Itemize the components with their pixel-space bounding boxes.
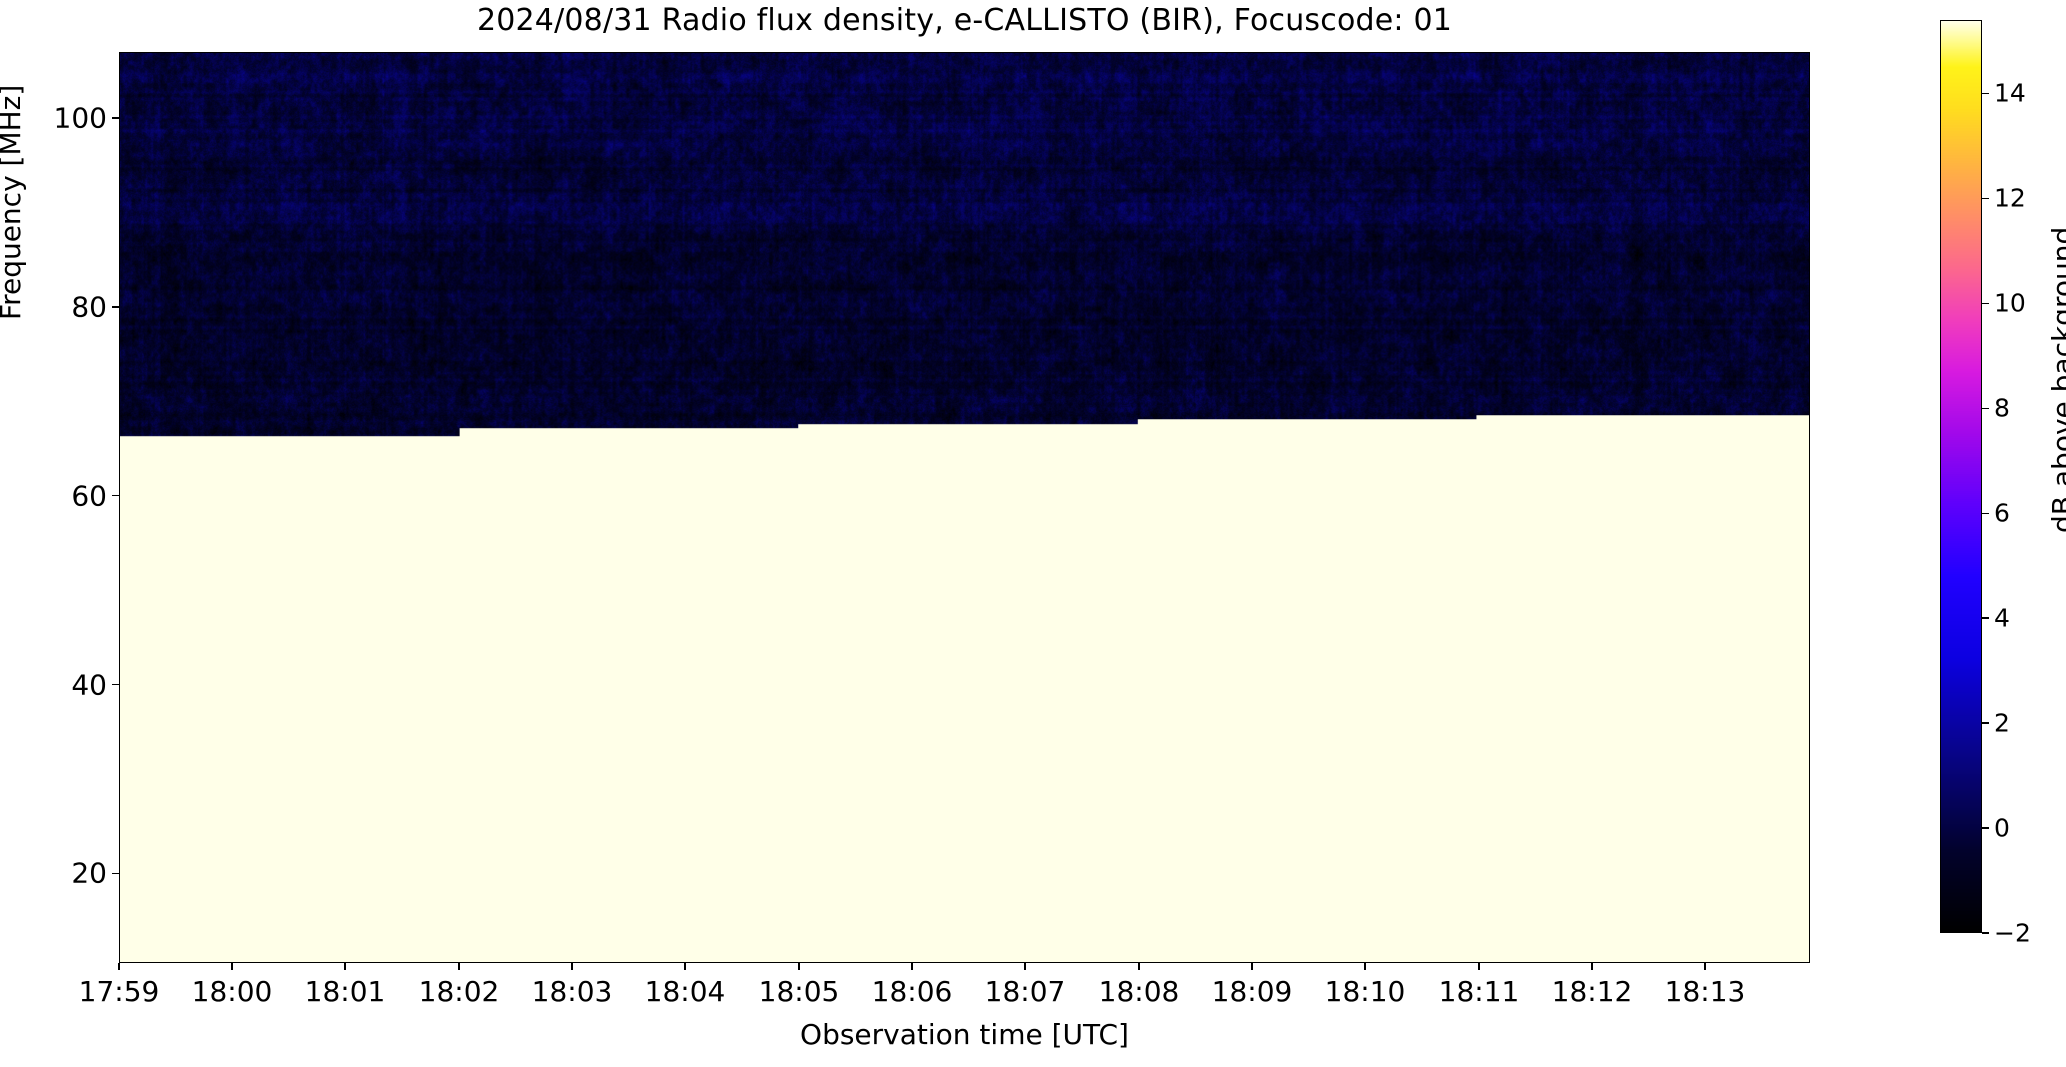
x-tick-mark [1364,963,1365,970]
colorbar-tick-label: 6 [1994,499,2010,528]
x-tick-label: 18:01 [305,975,386,1008]
x-tick-label: 18:12 [1552,975,1633,1008]
x-axis-label: Observation time [UTC] [119,1018,1810,1051]
colorbar-gradient [1941,21,1981,932]
colorbar-tick-label: 2 [1994,709,2010,738]
x-tick-mark [571,963,572,970]
colorbar-tick-label: 10 [1994,289,2026,318]
x-tick-mark [1251,963,1252,970]
colorbar-tick-mark [1982,198,1989,199]
colorbar-tick-mark [1982,617,1989,618]
y-tick-mark [112,306,119,307]
y-tick-mark [112,117,119,118]
y-tick-mark [112,495,119,496]
colorbar-label: dB above background [2046,227,2066,533]
x-tick-label: 18:09 [1212,975,1293,1008]
x-tick-label: 18:10 [1325,975,1406,1008]
colorbar-tick-mark [1982,513,1989,514]
x-tick-label: 18:08 [1099,975,1180,1008]
page-title: 2024/08/31 Radio flux density, e-CALLIST… [119,4,1810,38]
y-tick-label: 80 [71,290,107,323]
x-tick-label: 18:13 [1665,975,1746,1008]
x-tick-label: 18:02 [419,975,500,1008]
colorbar-tick-label: 12 [1994,184,2026,213]
x-tick-label: 18:05 [759,975,840,1008]
y-tick-label: 20 [71,857,107,890]
x-tick-mark [458,963,459,970]
y-tick-mark [112,684,119,685]
colorbar-tick-label: 0 [1994,814,2010,843]
x-tick-mark [1478,963,1479,970]
y-tick-label: 40 [71,668,107,701]
y-tick-label: 100 [54,102,107,135]
colorbar-tick-mark [1982,827,1989,828]
x-tick-mark [1138,963,1139,970]
spectrogram-plot-area [119,52,1810,963]
colorbar-tick-mark [1982,932,1989,933]
x-tick-mark [118,963,119,970]
y-tick-label: 60 [71,479,107,512]
colorbar-tick-mark [1982,93,1989,94]
colorbar-tick-mark [1982,408,1989,409]
colorbar-tick-label: 4 [1994,604,2010,633]
x-tick-mark [344,963,345,970]
y-tick-mark [112,873,119,874]
x-tick-label: 18:00 [192,975,273,1008]
x-tick-mark [798,963,799,970]
x-tick-label: 18:11 [1439,975,1520,1008]
x-tick-mark [684,963,685,970]
x-tick-mark [1591,963,1592,970]
colorbar-tick-label: −2 [1994,919,2031,948]
x-tick-label: 18:07 [985,975,1066,1008]
colorbar-tick-mark [1982,722,1989,723]
x-tick-label: 17:59 [79,975,160,1008]
x-tick-mark [231,963,232,970]
colorbar-tick-label: 14 [1994,79,2026,108]
x-tick-mark [911,963,912,970]
colorbar-tick-label: 8 [1994,394,2010,423]
x-tick-label: 18:06 [872,975,953,1008]
colorbar [1940,20,1982,933]
x-tick-mark [1024,963,1025,970]
x-tick-mark [1704,963,1705,970]
spectrogram-image [120,53,1809,962]
colorbar-tick-mark [1982,303,1989,304]
y-axis-label: Frequency [MHz] [0,85,27,320]
x-tick-label: 18:03 [532,975,613,1008]
x-tick-label: 18:04 [645,975,726,1008]
